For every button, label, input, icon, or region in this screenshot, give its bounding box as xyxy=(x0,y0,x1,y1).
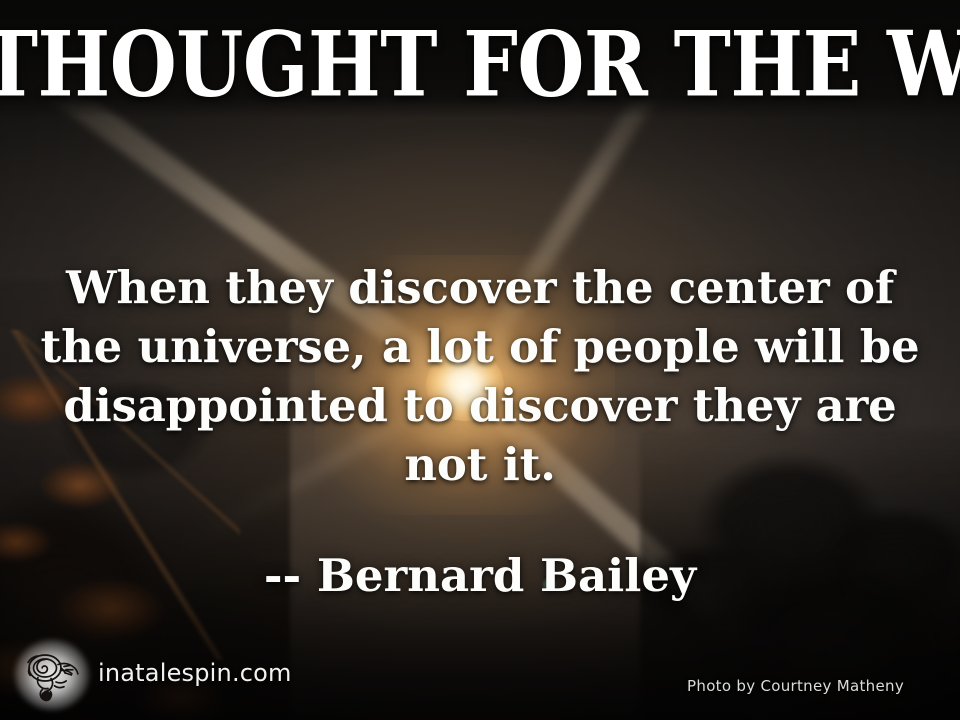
quote-text: When they discover the center of the uni… xyxy=(28,258,932,494)
brand-watermark[interactable]: inatalespin.com xyxy=(20,644,292,706)
photo-credit: Photo by Courtney Matheny xyxy=(687,677,904,695)
quote-attribution: -- Bernard Bailey xyxy=(0,548,960,604)
brand-url-label[interactable]: inatalespin.com xyxy=(98,659,292,691)
quote-poster: THOUGHT FOR THE WEEK When they discover … xyxy=(0,0,960,720)
page-title: THOUGHT FOR THE WEEK xyxy=(0,16,960,114)
spinning-top-icon xyxy=(20,644,84,706)
